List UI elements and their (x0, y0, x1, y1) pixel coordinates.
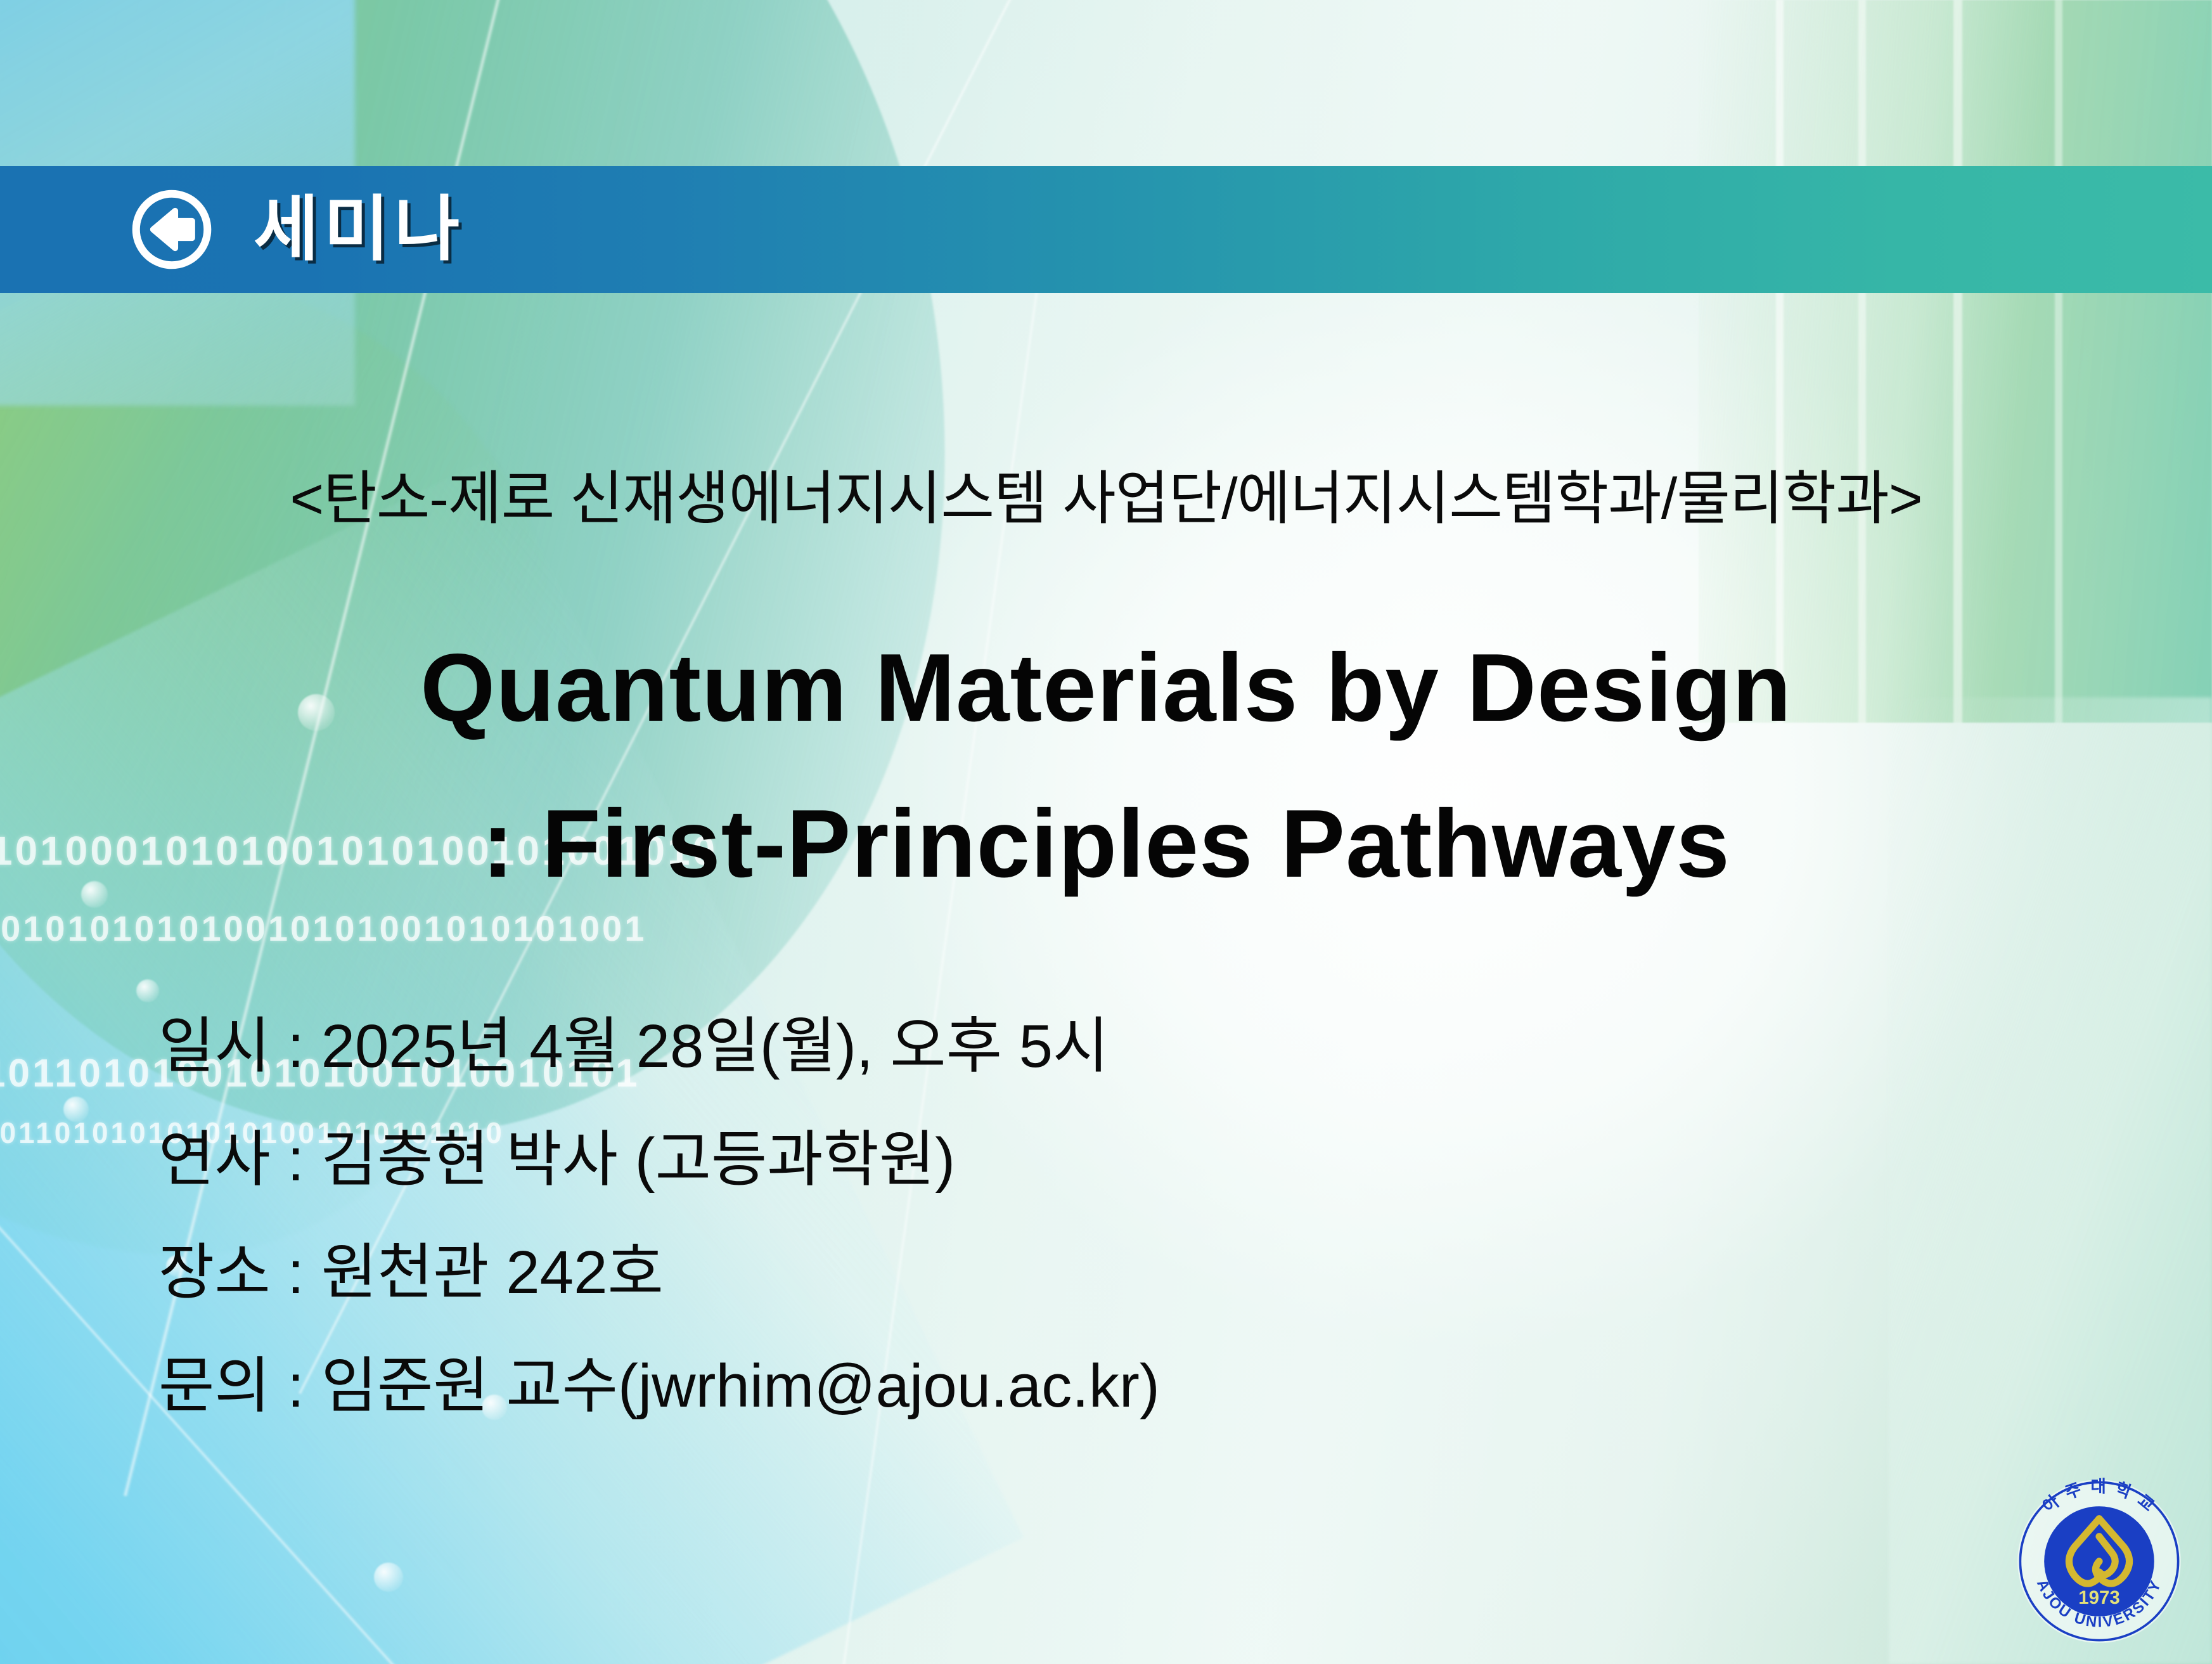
back-arrow-circle-icon[interactable] (129, 187, 214, 272)
banner-title: 세미나 (254, 194, 465, 265)
poster-title-line-2: : First-Principles Pathways (0, 766, 2212, 922)
logo-year: 1973 (2078, 1587, 2119, 1608)
detail-datetime: 일시 : 2025년 4월 28일(월), 오후 5시 (158, 990, 1870, 1104)
poster-content: <탄소-제로 신재생에너지시스템 사업단/에너지시스템학과/물리학과> Quan… (0, 293, 2212, 1664)
detail-speaker: 연사 : 김충현 박사 (고등과학원) (158, 1104, 1870, 1217)
poster-title: Quantum Materials by Design : First-Prin… (0, 610, 2212, 922)
poster-title-line-1: Quantum Materials by Design (0, 610, 2212, 766)
detail-location: 장소 : 원천관 242호 (158, 1216, 1870, 1330)
seminar-banner: 세미나 (0, 166, 2212, 293)
detail-contact: 문의 : 임준원 교수(jwrhim@ajou.ac.kr) (158, 1330, 1870, 1443)
poster-details: 일시 : 2025년 4월 28일(월), 오후 5시 연사 : 김충현 박사 … (158, 990, 1870, 1443)
ajou-university-logo: 1973 아 주 대 학 교 AJOU UNIVERSITY (2010, 1473, 2188, 1650)
seminar-poster: 10100010101001010100101001010 1010101010… (0, 0, 2212, 1664)
poster-subtitle: <탄소-제로 신재생에너지시스템 사업단/에너지시스템학과/물리학과> (0, 451, 2212, 536)
